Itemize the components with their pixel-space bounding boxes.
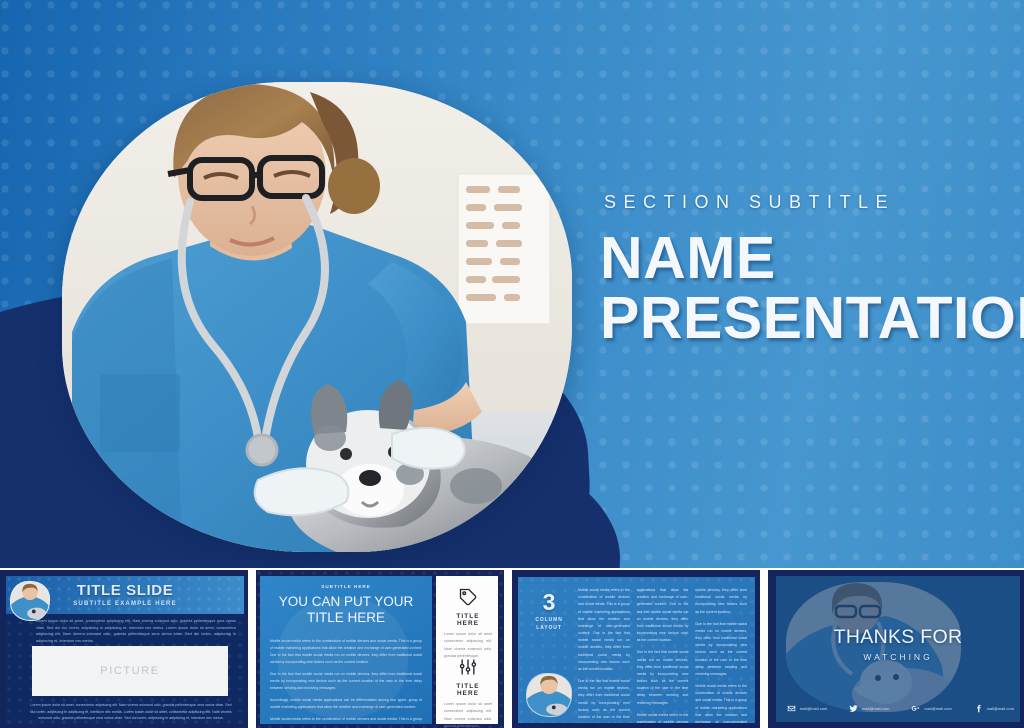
thumb3-avatar bbox=[526, 673, 572, 717]
thumb3-col3-p2: Due to the fact that mobile social media… bbox=[695, 621, 747, 678]
thumb2-subtitle: SUBTITLE HERE bbox=[260, 584, 432, 589]
thumb4-subtitle: WATCHING bbox=[776, 652, 1020, 662]
thumb2-left-panel: SUBTITLE HERE YOU CAN PUT YOUR TITLE HER… bbox=[260, 576, 432, 724]
thumb3-col2-p1: applications that allow the creation and… bbox=[637, 587, 689, 644]
thumb3-number: 3 bbox=[526, 591, 572, 614]
thumb2-card-1[interactable]: TITLE HERE Lorem ipsum dolor sit amet co… bbox=[444, 584, 492, 661]
thumb3-column-3: mobile devices, they differ from traditi… bbox=[695, 587, 747, 715]
title-line-1: NAME bbox=[600, 225, 776, 291]
thumb3-col2-p2: Due to the fact that mobile social media… bbox=[637, 649, 689, 706]
social-item-mail[interactable]: mail@mail.com bbox=[786, 703, 827, 714]
thumb2-body-p4: Mobile social media refers to the combin… bbox=[270, 716, 422, 724]
thumb3-label-line-1: COLUMN bbox=[535, 617, 562, 623]
thumbnail-thanks-slide[interactable]: THANKS FOR WATCHING mail@mail.com mail@m… bbox=[768, 570, 1024, 728]
google-plus-icon bbox=[910, 703, 921, 714]
social-item-google-plus[interactable]: mail@mail.com bbox=[910, 703, 951, 714]
thumb1-picture-placeholder[interactable]: PICTURE bbox=[32, 646, 228, 696]
page-title: NAME PRESENTATION bbox=[600, 228, 1000, 348]
thumb2-card-2[interactable]: TITLE HERE Lorem ipsum dolor sit amet co… bbox=[444, 654, 492, 728]
twitter-icon bbox=[848, 703, 859, 714]
thumb3-number-label: COLUMN LAYOUT bbox=[524, 617, 574, 632]
thumb4-social-row: mail@mail.com mail@mail.com mail@mail.co… bbox=[786, 703, 1014, 714]
social-facebook-label: mail@mail.com bbox=[987, 707, 1014, 711]
thumbnail-three-column-slide[interactable]: 3 COLUMN LAYOUT bbox=[512, 570, 760, 728]
thumb2-title: YOU CAN PUT YOUR TITLE HERE bbox=[270, 594, 422, 626]
social-mail-label: mail@mail.com bbox=[800, 707, 827, 711]
slide-thumbnail-strip: TITLE SLIDE SUBTITLE EXAMPLE HERE Lorem … bbox=[0, 570, 1024, 728]
sliders-icon bbox=[444, 654, 492, 680]
thumb1-picture-label: PICTURE bbox=[100, 665, 159, 677]
thumbnail-title-slide[interactable]: TITLE SLIDE SUBTITLE EXAMPLE HERE Lorem … bbox=[0, 570, 248, 728]
thumb4-photo-tint bbox=[776, 576, 1020, 722]
title-line-2: PRESENTATION bbox=[600, 288, 1000, 348]
section-subtitle: SECTION SUBTITLE bbox=[604, 192, 895, 213]
tag-icon bbox=[444, 584, 492, 610]
thumb1-paragraph-bottom: Lorem ipsum dolor sit amet, consectetur … bbox=[30, 702, 232, 722]
social-item-facebook[interactable]: mail@mail.com bbox=[973, 703, 1014, 714]
thumb3-col1-p1: Mobile social media refers to the combin… bbox=[578, 587, 630, 673]
thumbnail-title-icons-slide[interactable]: SUBTITLE HERE YOU CAN PUT YOUR TITLE HER… bbox=[256, 570, 504, 728]
thumb1-title: TITLE SLIDE bbox=[6, 582, 244, 599]
main-slide[interactable]: SECTION SUBTITLE NAME PRESENTATION bbox=[0, 0, 1024, 568]
thumb1-paragraph-top: Lorem ipsum dolor sit amet, consectetur … bbox=[36, 618, 236, 645]
veterinarian-examining-dog-photo bbox=[62, 82, 572, 552]
thumb3-col1-p2: Due to the fact that mobile social media… bbox=[578, 678, 630, 723]
thumb3-col3-p3: Mobile social media refers to the combin… bbox=[695, 683, 747, 723]
presentation-preview: SECTION SUBTITLE NAME PRESENTATION bbox=[0, 0, 1024, 728]
thumb3-col2-p3: Mobile social media refers to the combin… bbox=[637, 712, 689, 723]
thumb3-label-line-2: LAYOUT bbox=[536, 625, 562, 631]
thumb2-card-2-text: Lorem ipsum dolor sit amet consectetur a… bbox=[444, 701, 492, 728]
thumb2-card-2-heading: TITLE HERE bbox=[444, 683, 492, 697]
thumb2-body-p1: Mobile social media refers to the combin… bbox=[270, 638, 422, 666]
social-item-twitter[interactable]: mail@mail.com bbox=[848, 703, 889, 714]
mail-icon bbox=[786, 703, 797, 714]
thumb3-column-2: applications that allow the creation and… bbox=[637, 587, 689, 715]
hero-photo bbox=[62, 82, 572, 552]
social-twitter-label: mail@mail.com bbox=[862, 707, 889, 711]
thumb2-card-1-heading: TITLE HERE bbox=[444, 613, 492, 627]
facebook-icon bbox=[973, 703, 984, 714]
thumb3-columns: Mobile social media refers to the combin… bbox=[578, 587, 747, 715]
thumb2-body-p2: Due to the fact that mobile social media… bbox=[270, 671, 422, 692]
social-gplus-label: mail@mail.com bbox=[924, 707, 951, 711]
thumb4-title: THANKS FOR bbox=[776, 626, 1020, 649]
thumb2-right-panel: TITLE HERE Lorem ipsum dolor sit amet co… bbox=[436, 576, 498, 724]
thumb3-col3-p1: mobile devices, they differ from traditi… bbox=[695, 587, 747, 616]
thumb3-column-1: Mobile social media refers to the combin… bbox=[578, 587, 630, 715]
thumb2-body: Mobile social media refers to the combin… bbox=[270, 638, 422, 724]
thumb1-subtitle: SUBTITLE EXAMPLE HERE bbox=[6, 601, 244, 607]
thumb2-body-p3: Accordingly, mobile social media applica… bbox=[270, 697, 422, 711]
